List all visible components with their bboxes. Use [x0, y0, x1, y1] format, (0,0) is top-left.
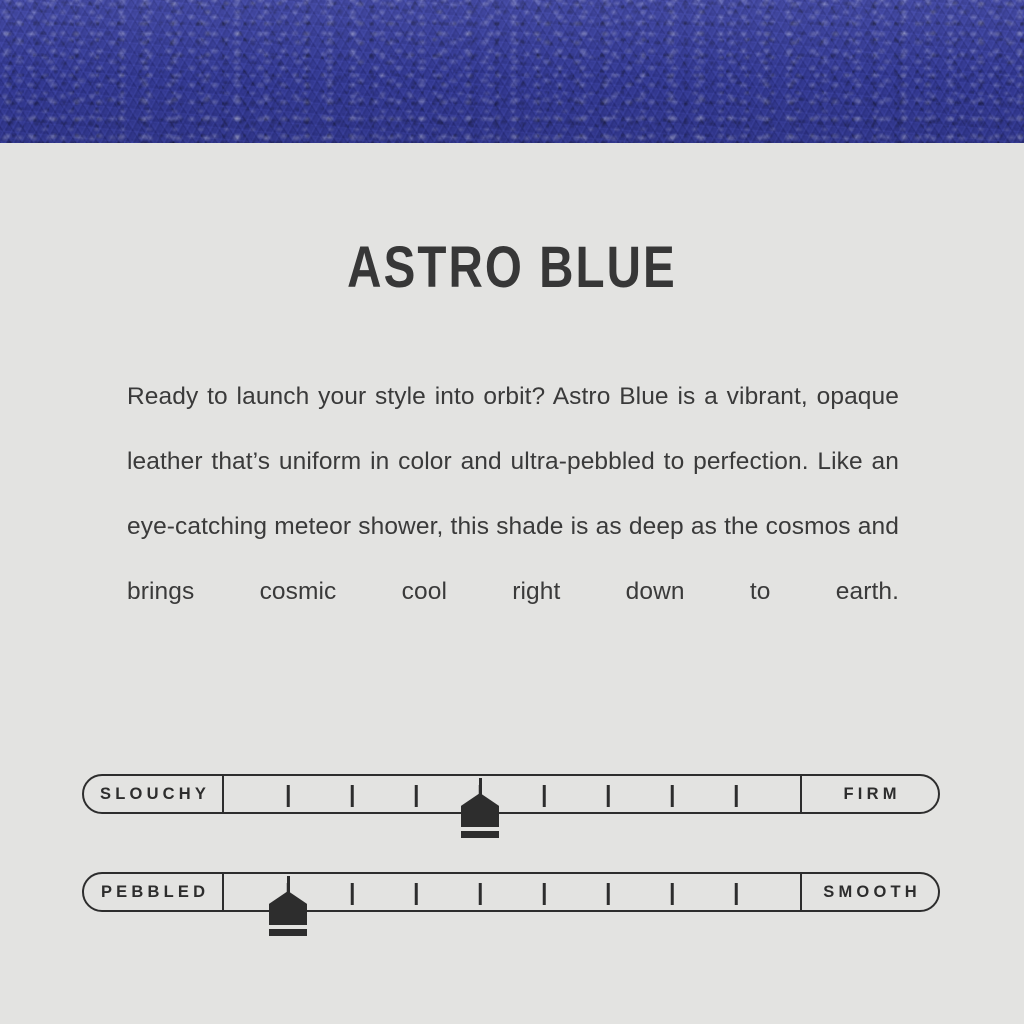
slider-tick [607, 883, 610, 905]
slider-track-structure[interactable]: SLOUCHY FIRM [82, 774, 940, 814]
slider-tick [287, 883, 290, 905]
slider-tick [735, 883, 738, 905]
slider-right-label-smooth: SMOOTH [800, 874, 938, 910]
slider-structure[interactable]: SLOUCHY FIRM [82, 774, 940, 816]
slider-ticks-structure [224, 776, 800, 812]
slider-tick [671, 883, 674, 905]
info-panel: ASTRO BLUE Ready to launch your style in… [0, 143, 1024, 1024]
slider-tick [479, 883, 482, 905]
slider-track-texture[interactable]: PEBBLED SMOOTH [82, 872, 940, 912]
description-block: Ready to launch your style into orbit? A… [127, 364, 899, 689]
slider-tick [415, 785, 418, 807]
slider-tick [287, 785, 290, 807]
slider-tick [607, 785, 610, 807]
marker-base-bar-icon [269, 929, 307, 936]
slider-texture[interactable]: PEBBLED SMOOTH [82, 872, 940, 914]
slider-right-label-firm: FIRM [800, 776, 938, 812]
slider-ticks-texture [224, 874, 800, 910]
slider-tick [351, 785, 354, 807]
description-text: Ready to launch your style into orbit? A… [127, 364, 899, 689]
slider-tick [671, 785, 674, 807]
leather-shading-layer [0, 0, 1024, 143]
slider-left-label-slouchy: SLOUCHY [84, 776, 224, 812]
slider-tick [543, 883, 546, 905]
slider-tick [479, 785, 482, 807]
slider-tick [735, 785, 738, 807]
slider-tick [543, 785, 546, 807]
slider-tick [415, 883, 418, 905]
leather-swatch-image [0, 0, 1024, 143]
slider-left-label-pebbled: PEBBLED [84, 874, 224, 910]
page-title: ASTRO BLUE [92, 239, 932, 297]
attribute-scales: SLOUCHY FIRM PEBBLED SMOOTH [82, 774, 940, 970]
marker-base-bar-icon [461, 831, 499, 838]
slider-tick [351, 883, 354, 905]
